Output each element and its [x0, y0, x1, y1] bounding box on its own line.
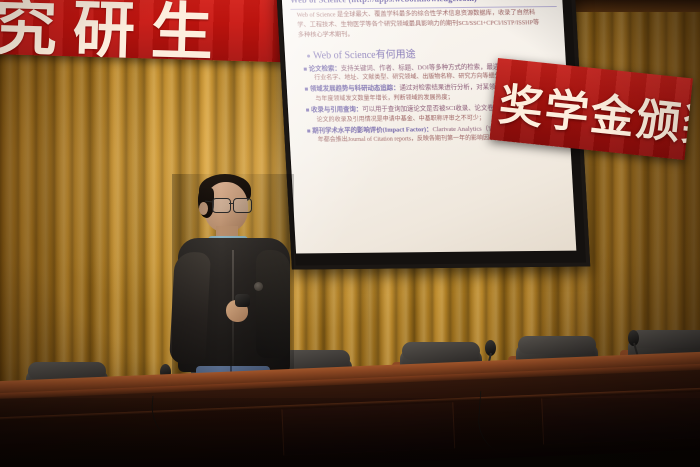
jacket-logo: [254, 282, 263, 291]
presenter-arm-right: [256, 250, 290, 358]
chair-headrest: [518, 336, 596, 354]
presenter-ear: [199, 202, 208, 215]
slide-title: Web of Science (http://apps.webofknowled…: [290, 0, 557, 5]
glasses-bridge: [229, 203, 234, 204]
glasses-icon: [212, 198, 252, 212]
bullet-dot-icon: [307, 54, 310, 57]
bullet-square-icon: [306, 109, 309, 112]
banner-left-text: 究研生: [0, 0, 230, 62]
banner-left: 究研生: [0, 0, 290, 62]
slide-subtitle-2: 多种核心学术期刊。: [298, 29, 559, 41]
bullet-square-icon: [304, 67, 307, 70]
presenter-arm-left: [169, 251, 211, 365]
glasses-lens-right: [233, 198, 252, 213]
table-panel-seam: [281, 402, 455, 455]
chair-headrest: [402, 342, 480, 360]
bullet-square-icon: [305, 88, 308, 91]
photo-scene: 究研生 Web of Science (http://apps.webofkno…: [0, 0, 700, 467]
glasses-lens-left: [212, 198, 231, 213]
chair-headrest: [630, 330, 700, 348]
bullet-square-icon: [307, 129, 310, 132]
slide-heading: Web of Science有何用途: [307, 44, 560, 62]
table-panel-seam: [541, 391, 700, 445]
presenter-clicker: [235, 294, 250, 307]
